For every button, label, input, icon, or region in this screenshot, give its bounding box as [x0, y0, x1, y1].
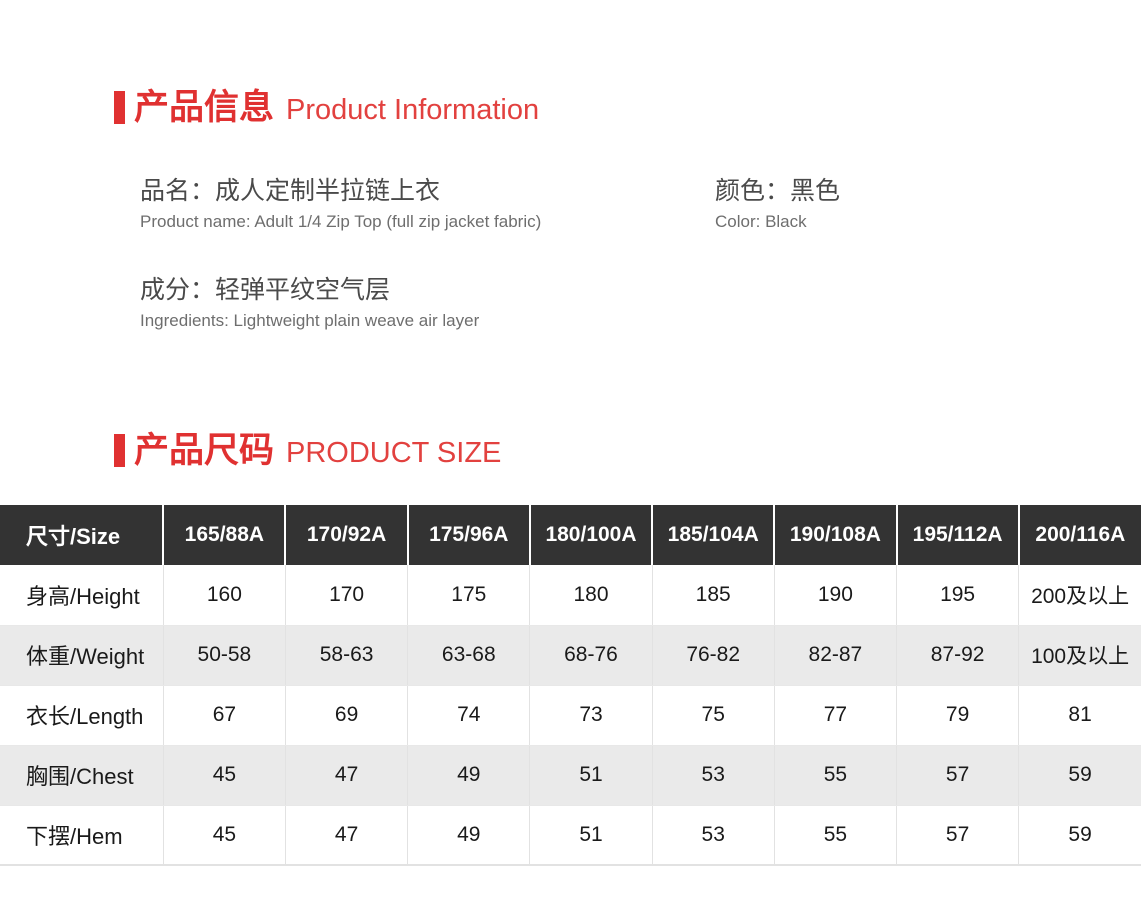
size-cell: 74: [408, 685, 530, 745]
size-cell: 76-82: [652, 625, 774, 685]
field-product-name-cn: 品名：成人定制半拉链上衣: [140, 176, 541, 207]
size-cell: 100及以上: [1019, 625, 1141, 685]
row-label-height: 身高/Height: [0, 565, 163, 625]
size-cell: 67: [163, 685, 285, 745]
red-bar-accent-icon: [114, 434, 125, 467]
red-bar-accent-icon: [114, 91, 125, 124]
table-row: 下摆/Hem 45 47 49 51 53 55 57 59: [0, 805, 1141, 865]
size-cell: 59: [1019, 745, 1141, 805]
size-cell: 53: [652, 745, 774, 805]
size-cell: 58-63: [285, 625, 407, 685]
size-table-corner-label: 尺寸/Size: [0, 505, 163, 565]
size-column-header: 190/108A: [774, 505, 896, 565]
size-cell: 50-58: [163, 625, 285, 685]
field-product-name-en: Product name: Adult 1/4 Zip Top (full zi…: [140, 211, 541, 232]
size-table-container: 尺寸/Size 165/88A 170/92A 175/96A 180/100A…: [0, 505, 1141, 866]
size-table-header-row: 尺寸/Size 165/88A 170/92A 175/96A 180/100A…: [0, 505, 1141, 565]
product-size-heading-cn: 产品尺码: [134, 422, 274, 473]
size-cell: 73: [530, 685, 652, 745]
field-ingredients-en: Ingredients: Lightweight plain weave air…: [140, 310, 479, 331]
size-cell: 160: [163, 565, 285, 625]
size-cell: 195: [897, 565, 1019, 625]
size-cell: 47: [285, 805, 407, 865]
size-cell: 69: [285, 685, 407, 745]
product-information-heading-cn: 产品信息: [134, 79, 274, 130]
size-cell: 55: [774, 745, 896, 805]
size-cell: 59: [1019, 805, 1141, 865]
size-cell: 47: [285, 745, 407, 805]
product-information-heading: 产品信息 Product Information: [114, 79, 539, 130]
size-column-header: 195/112A: [897, 505, 1019, 565]
size-column-header: 200/116A: [1019, 505, 1141, 565]
size-column-header: 175/96A: [408, 505, 530, 565]
size-table: 尺寸/Size 165/88A 170/92A 175/96A 180/100A…: [0, 505, 1141, 866]
field-product-name: 品名：成人定制半拉链上衣 Product name: Adult 1/4 Zip…: [140, 176, 541, 233]
size-cell: 57: [897, 745, 1019, 805]
field-color-cn: 颜色：黑色: [715, 176, 840, 207]
size-cell: 51: [530, 745, 652, 805]
size-cell: 45: [163, 805, 285, 865]
table-row: 胸围/Chest 45 47 49 51 53 55 57 59: [0, 745, 1141, 805]
size-column-header: 180/100A: [530, 505, 652, 565]
product-information-heading-en: Product Information: [286, 94, 539, 127]
size-column-header: 170/92A: [285, 505, 407, 565]
field-ingredients-cn: 成分：轻弹平纹空气层: [140, 275, 479, 306]
size-cell: 87-92: [897, 625, 1019, 685]
size-cell: 79: [897, 685, 1019, 745]
size-cell: 77: [774, 685, 896, 745]
row-label-weight: 体重/Weight: [0, 625, 163, 685]
size-cell: 45: [163, 745, 285, 805]
table-row: 体重/Weight 50-58 58-63 63-68 68-76 76-82 …: [0, 625, 1141, 685]
size-cell: 175: [408, 565, 530, 625]
size-cell: 82-87: [774, 625, 896, 685]
product-size-heading: 产品尺码 PRODUCT SIZE: [114, 422, 501, 473]
row-label-chest: 胸围/Chest: [0, 745, 163, 805]
size-cell: 190: [774, 565, 896, 625]
size-cell: 49: [408, 745, 530, 805]
size-cell: 68-76: [530, 625, 652, 685]
product-size-heading-en: PRODUCT SIZE: [286, 437, 501, 470]
size-cell: 200及以上: [1019, 565, 1141, 625]
size-cell: 63-68: [408, 625, 530, 685]
row-label-length: 衣长/Length: [0, 685, 163, 745]
size-cell: 53: [652, 805, 774, 865]
row-label-hem: 下摆/Hem: [0, 805, 163, 865]
field-color: 颜色：黑色 Color: Black: [715, 176, 840, 233]
size-cell: 185: [652, 565, 774, 625]
table-row: 身高/Height 160 170 175 180 185 190 195 20…: [0, 565, 1141, 625]
size-cell: 170: [285, 565, 407, 625]
table-row: 衣长/Length 67 69 74 73 75 77 79 81: [0, 685, 1141, 745]
field-ingredients: 成分：轻弹平纹空气层 Ingredients: Lightweight plai…: [140, 275, 479, 332]
size-cell: 75: [652, 685, 774, 745]
size-cell: 51: [530, 805, 652, 865]
size-column-header: 165/88A: [163, 505, 285, 565]
size-cell: 49: [408, 805, 530, 865]
size-cell: 57: [897, 805, 1019, 865]
size-cell: 81: [1019, 685, 1141, 745]
size-cell: 55: [774, 805, 896, 865]
field-color-en: Color: Black: [715, 211, 840, 232]
size-cell: 180: [530, 565, 652, 625]
size-column-header: 185/104A: [652, 505, 774, 565]
